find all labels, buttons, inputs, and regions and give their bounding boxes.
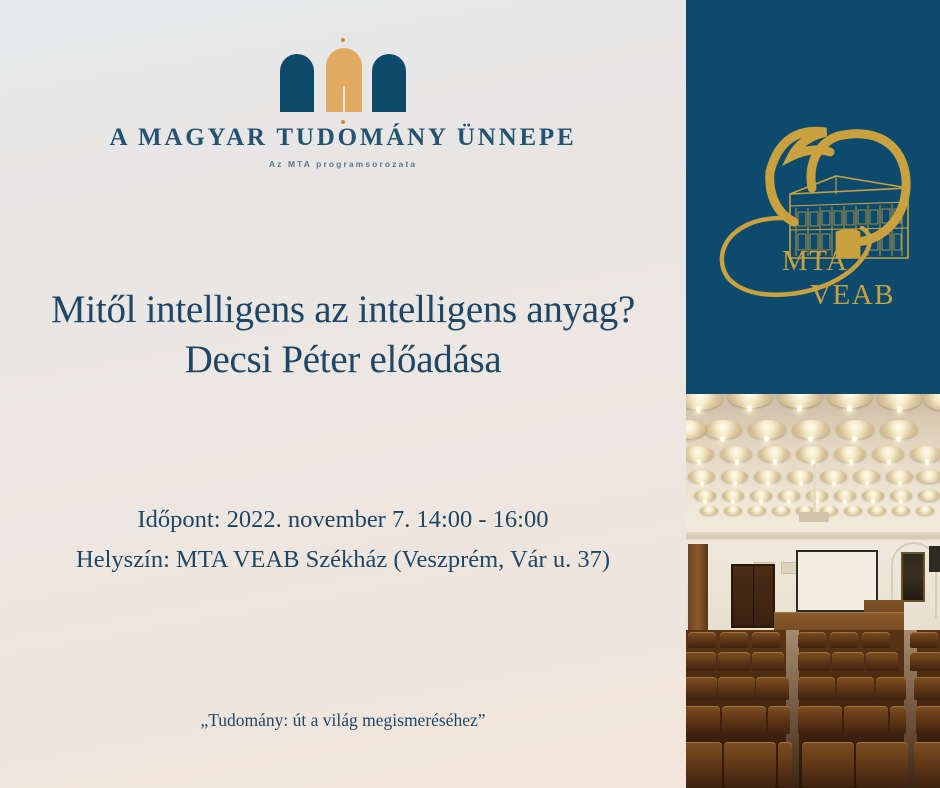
ceiling-projector <box>799 512 829 522</box>
projector-mount-rod <box>813 464 816 514</box>
poster-content-column: A MAGYAR TUDOMÁNY ÜNNEPE Az MTA programs… <box>0 0 686 788</box>
headline-line-2: Decsi Péter előadása <box>0 335 686 385</box>
headline-line-1: Mitől intelligens az intelligens anyag? <box>51 288 635 331</box>
logo-subtitle: Az MTA programsorozata <box>0 159 686 169</box>
event-poster: A MAGYAR TUDOMÁNY ÜNNEPE Az MTA programs… <box>0 0 940 788</box>
logo-org-text: MTA <box>782 245 849 277</box>
logo-wordmark: A MAGYAR TUDOMÁNY ÜNNEPE <box>0 124 686 152</box>
wall-speaker <box>929 546 940 572</box>
wall-vent-right <box>781 562 797 574</box>
blue-logo-panel: MTA VEAB <box>686 0 940 394</box>
poster-tagline: „Tudomány: út a világ megismeréséhez” <box>0 710 686 731</box>
event-time: Időpont: 2022. november 7. 14:00 - 16:00 <box>0 500 686 540</box>
auditorium-seating <box>686 630 940 788</box>
ornament-dot-bottom-icon <box>341 120 345 124</box>
ornament-dot-top-icon <box>341 38 345 42</box>
magyar-tudomany-unnepe-logo: A MAGYAR TUDOMÁNY ÜNNEPE Az MTA programs… <box>0 40 686 169</box>
three-arches-mark-icon <box>273 40 413 112</box>
hall-door <box>731 564 775 628</box>
mta-veab-50-anniversary-logo: MTA VEAB <box>686 110 940 310</box>
arch-right-shape-icon <box>372 54 406 112</box>
arch-left-shape-icon <box>280 54 314 112</box>
arch-center-notch-icon <box>343 86 345 112</box>
poster-side-column: MTA VEAB <box>686 0 940 788</box>
arch-center-shape-icon <box>326 48 362 112</box>
event-details: Időpont: 2022. november 7. 14:00 - 16:00… <box>0 500 686 579</box>
lecture-hall-photo <box>686 394 940 788</box>
wooden-pillar <box>688 544 708 634</box>
logo-branch-text: VEAB <box>810 279 895 310</box>
poster-headline: Mitől intelligens az intelligens anyag? … <box>0 285 686 385</box>
event-venue: Helyszín: MTA VEAB Székház (Veszprém, Vá… <box>0 540 686 580</box>
framed-portrait-painting <box>901 552 925 602</box>
